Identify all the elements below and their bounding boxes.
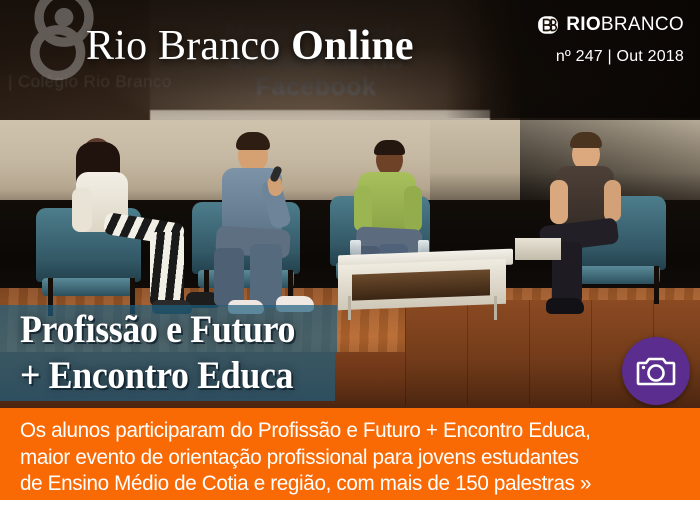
footer-white-strip [0,500,700,515]
photo-gallery-badge[interactable] [622,337,690,405]
rio-branco-monogram-icon [537,14,559,36]
headline-block: Profissão e Futuro + Encontro Educa [0,305,337,401]
headline-row-2: + Encontro Educa [0,353,335,401]
camera-icon [636,355,676,387]
brand-bold: RIO [566,14,601,35]
side-box [515,238,561,260]
page-title: Rio Branco Online [86,22,414,70]
brand-lockup: RIOBRANCO [537,14,684,36]
headline-line-2: + Encontro Educa [20,353,293,399]
brand-light: BRANCO [601,14,684,35]
summary-line-1: Os alunos participaram do Profissão e Fu… [20,417,656,444]
coffee-table-leg-l [348,296,351,320]
title-bold: Online [291,23,414,69]
issue-label: nº 247 | Out 2018 [556,48,684,66]
chair-4-leg-r [654,266,659,304]
coffee-table-shelf [352,269,490,300]
headline-row-1: Profissão e Futuro [0,305,337,353]
summary-line-3[interactable]: de Ensino Médio de Cotia e região, com m… [20,470,656,497]
headline-line-1: Profissão e Futuro [20,307,295,353]
title-regular: Rio Branco [86,23,280,69]
newsletter-card: Mesa Redonda do Gerente no Facebook | Co… [0,0,700,500]
coffee-table-leg-r [494,296,497,320]
brand-text: RIOBRANCO [566,14,684,36]
summary-line-2: maior evento de orientação profissional … [20,444,656,471]
summary-band: Os alunos participaram do Profissão e Fu… [0,408,700,500]
